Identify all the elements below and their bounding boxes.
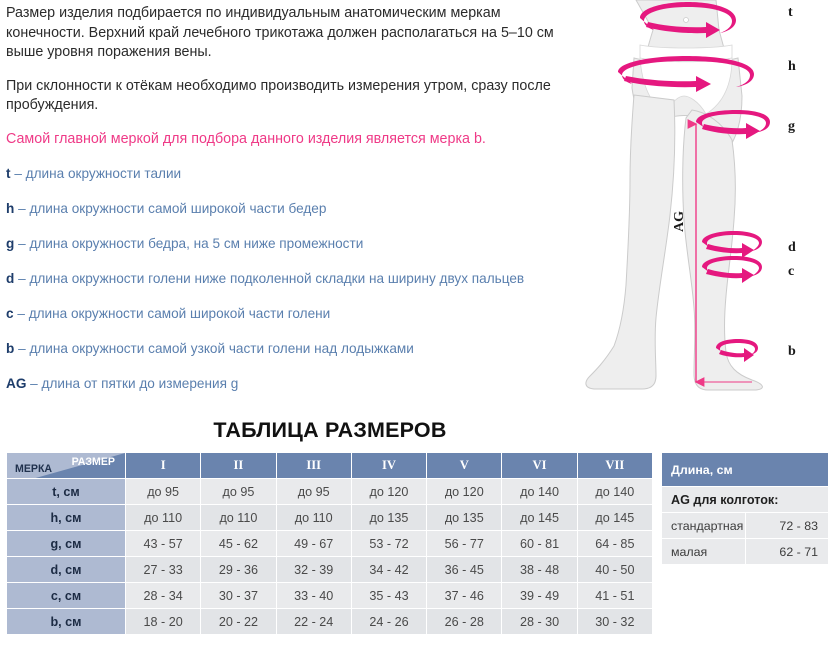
legend-key-ag: AG bbox=[6, 376, 26, 391]
legend-text-h: длина окружности самой широкой части бед… bbox=[29, 201, 326, 216]
cell-d-5: 36 - 45 bbox=[427, 557, 501, 582]
intro-paragraph-1: Размер изделия подбирается по индивидуал… bbox=[6, 4, 576, 63]
cell-b-5: 26 - 28 bbox=[427, 609, 501, 634]
cell-b-7: 30 - 32 bbox=[578, 609, 652, 634]
length-table: Длина, см AG для колготок: стандартная 7… bbox=[661, 452, 829, 565]
cell-c-3: 33 - 40 bbox=[277, 583, 351, 608]
table-row: c, см 28 - 34 30 - 37 33 - 40 35 - 43 37… bbox=[7, 583, 652, 608]
table-header-row: РАЗМЕР МЕРКА I II III IV V VI VII bbox=[7, 453, 652, 478]
legend-dash-t: – bbox=[14, 166, 22, 181]
length-table-subtitle-row: AG для колготок: bbox=[662, 487, 828, 512]
cell-d-6: 38 - 48 bbox=[502, 557, 576, 582]
cell-b-1: 18 - 20 bbox=[126, 609, 200, 634]
cell-t-5: до 120 bbox=[427, 479, 501, 504]
cell-t-2: до 95 bbox=[201, 479, 275, 504]
cell-b-3: 22 - 24 bbox=[277, 609, 351, 634]
cell-c-7: 41 - 51 bbox=[578, 583, 652, 608]
cell-t-7: до 140 bbox=[578, 479, 652, 504]
cell-b-2: 20 - 22 bbox=[201, 609, 275, 634]
diagram-label-d: d bbox=[788, 240, 796, 256]
diagram-label-h: h bbox=[788, 59, 796, 75]
cell-t-4: до 120 bbox=[352, 479, 426, 504]
legend-text-b: длина окружности самой узкой части голен… bbox=[29, 341, 413, 356]
length-table-row: стандартная 72 - 83 bbox=[662, 513, 828, 538]
column-header-6: VI bbox=[502, 453, 576, 478]
cell-h-3: до 110 bbox=[277, 505, 351, 530]
cell-c-4: 35 - 43 bbox=[352, 583, 426, 608]
size-table: РАЗМЕР МЕРКА I II III IV V VI VII t, см … bbox=[6, 452, 653, 635]
length-table-row: малая 62 - 71 bbox=[662, 539, 828, 564]
instructions-text-column: Размер изделия подбирается по индивидуал… bbox=[6, 4, 576, 410]
column-header-5: V bbox=[427, 453, 501, 478]
row-label-b: b, см bbox=[7, 609, 125, 634]
diagram-label-g: g bbox=[788, 119, 795, 135]
cell-c-6: 39 - 49 bbox=[502, 583, 576, 608]
table-row: d, см 27 - 33 29 - 36 32 - 39 34 - 42 36… bbox=[7, 557, 652, 582]
column-header-7: VII bbox=[578, 453, 652, 478]
legend-item-g: g – длина окружности бедра, на 5 см ниже… bbox=[6, 235, 576, 253]
row-label-c: c, см bbox=[7, 583, 125, 608]
legend-item-h: h – длина окружности самой широкой части… bbox=[6, 200, 576, 218]
legend-text-t: длина окружности талии bbox=[26, 166, 181, 181]
row-label-d: d, см bbox=[7, 557, 125, 582]
legend-text-d: длина окружности голени ниже подколенной… bbox=[29, 271, 524, 286]
length-label-small: малая bbox=[662, 539, 745, 564]
corner-column-header: РАЗМЕР bbox=[72, 456, 115, 468]
table-corner-cell: РАЗМЕР МЕРКА bbox=[7, 453, 125, 478]
cell-d-4: 34 - 42 bbox=[352, 557, 426, 582]
cell-b-4: 24 - 26 bbox=[352, 609, 426, 634]
corner-row-header: МЕРКА bbox=[15, 463, 52, 475]
cell-h-5: до 135 bbox=[427, 505, 501, 530]
cell-h-4: до 135 bbox=[352, 505, 426, 530]
column-header-4: IV bbox=[352, 453, 426, 478]
cell-g-2: 45 - 62 bbox=[201, 531, 275, 556]
cell-g-5: 56 - 77 bbox=[427, 531, 501, 556]
row-label-g: g, см bbox=[7, 531, 125, 556]
length-value-standard: 72 - 83 bbox=[746, 513, 829, 538]
diagram-label-ag: AG bbox=[672, 211, 688, 232]
row-label-t: t, см bbox=[7, 479, 125, 504]
cell-h-6: до 145 bbox=[502, 505, 576, 530]
legend-item-ag: AG – длина от пятки до измерения g bbox=[6, 375, 576, 393]
table-row: g, см 43 - 57 45 - 62 49 - 67 53 - 72 56… bbox=[7, 531, 652, 556]
table-row: h, см до 110 до 110 до 110 до 135 до 135… bbox=[7, 505, 652, 530]
cell-d-2: 29 - 36 bbox=[201, 557, 275, 582]
table-row: t, см до 95 до 95 до 95 до 120 до 120 до… bbox=[7, 479, 652, 504]
cell-g-3: 49 - 67 bbox=[277, 531, 351, 556]
anatomy-measurement-diagram: t h g d c b AG bbox=[556, 0, 832, 405]
cell-g-4: 53 - 72 bbox=[352, 531, 426, 556]
legend-dash-g: – bbox=[18, 236, 26, 251]
intro-paragraph-2: При склонности к отёкам необходимо произ… bbox=[6, 77, 576, 116]
diagram-label-t: t bbox=[788, 5, 793, 21]
legend-item-c: c – длина окружности самой широкой части… bbox=[6, 305, 576, 323]
cell-c-1: 28 - 34 bbox=[126, 583, 200, 608]
legend-dash-h: – bbox=[18, 201, 26, 216]
legend-key-c: c bbox=[6, 306, 14, 321]
length-table-header-row: Длина, см bbox=[662, 453, 828, 486]
cell-t-3: до 95 bbox=[277, 479, 351, 504]
length-table-header: Длина, см bbox=[662, 453, 828, 486]
cell-h-2: до 110 bbox=[201, 505, 275, 530]
legend-text-g: длина окружности бедра, на 5 см ниже про… bbox=[29, 236, 363, 251]
cell-b-6: 28 - 30 bbox=[502, 609, 576, 634]
length-label-standard: стандартная bbox=[662, 513, 745, 538]
highlight-note: Самой главной меркой для подбора данного… bbox=[6, 130, 576, 150]
legend-text-c: длина окружности самой широкой части гол… bbox=[29, 306, 331, 321]
diagram-label-c: c bbox=[788, 264, 794, 280]
cell-c-5: 37 - 46 bbox=[427, 583, 501, 608]
cell-g-6: 60 - 81 bbox=[502, 531, 576, 556]
size-table-title: ТАБЛИЦА РАЗМЕРОВ bbox=[0, 418, 660, 443]
row-label-h: h, см bbox=[7, 505, 125, 530]
cell-g-7: 64 - 85 bbox=[578, 531, 652, 556]
length-table-subtitle: AG для колготок: bbox=[662, 487, 828, 512]
legend-dash-d: – bbox=[18, 271, 26, 286]
legend-item-d: d – длина окружности голени ниже подколе… bbox=[6, 270, 576, 288]
cell-g-1: 43 - 57 bbox=[126, 531, 200, 556]
legend-item-b: b – длина окружности самой узкой части г… bbox=[6, 340, 576, 358]
legend-dash-b: – bbox=[18, 341, 26, 356]
cell-d-7: 40 - 50 bbox=[578, 557, 652, 582]
cell-d-3: 32 - 39 bbox=[277, 557, 351, 582]
length-value-small: 62 - 71 bbox=[746, 539, 829, 564]
cell-d-1: 27 - 33 bbox=[126, 557, 200, 582]
left-leg-shape bbox=[586, 95, 675, 389]
legend-dash-ag: – bbox=[30, 376, 38, 391]
column-header-1: I bbox=[126, 453, 200, 478]
column-header-2: II bbox=[201, 453, 275, 478]
column-header-3: III bbox=[277, 453, 351, 478]
legend-item-t: t – длина окружности талии bbox=[6, 165, 576, 183]
cell-h-7: до 145 bbox=[578, 505, 652, 530]
cell-t-6: до 140 bbox=[502, 479, 576, 504]
diagram-label-b: b bbox=[788, 344, 796, 360]
legend-text-ag: длина от пятки до измерения g bbox=[42, 376, 239, 391]
cell-h-1: до 110 bbox=[126, 505, 200, 530]
legend-dash-c: – bbox=[17, 306, 25, 321]
cell-c-2: 30 - 37 bbox=[201, 583, 275, 608]
navel-marker bbox=[684, 18, 689, 23]
cell-t-1: до 95 bbox=[126, 479, 200, 504]
table-row: b, см 18 - 20 20 - 22 22 - 24 24 - 26 26… bbox=[7, 609, 652, 634]
